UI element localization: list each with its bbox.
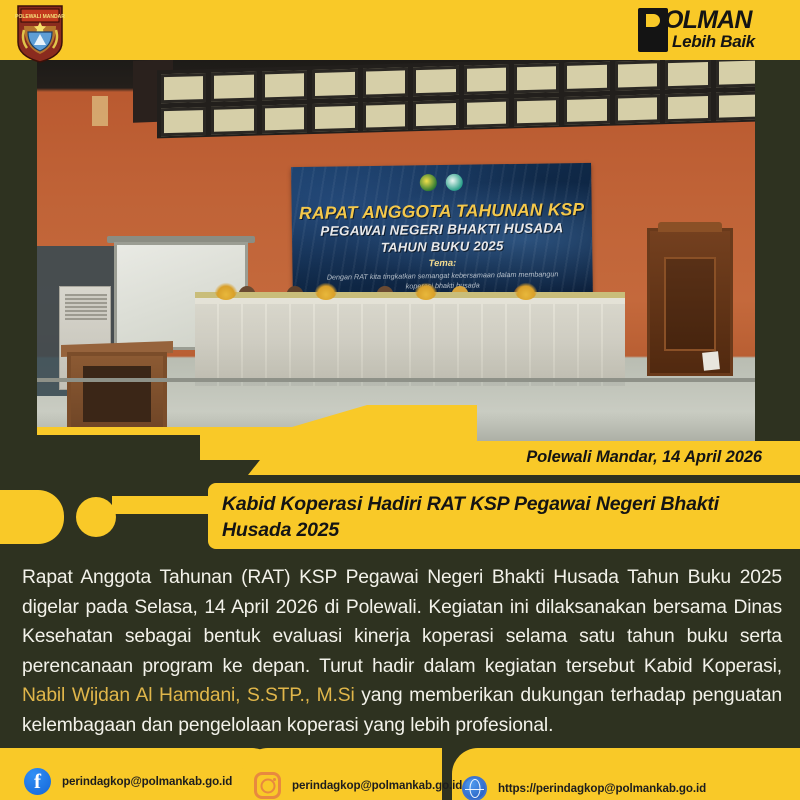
banner-logo-right-icon <box>446 174 463 191</box>
clerestory-window-band <box>157 60 755 138</box>
table-flower-arrangement <box>515 282 537 300</box>
title-decoration-dot <box>76 497 116 537</box>
facebook-handle: perindagkop@polmankab.go.id <box>62 775 232 788</box>
table-flower-arrangement <box>315 282 337 300</box>
globe-icon <box>462 776 487 800</box>
wooden-cabinet <box>647 228 733 376</box>
footer-website-link[interactable]: https://perindagkop@polmankab.go.id <box>462 776 706 800</box>
window-grid <box>161 60 755 136</box>
head-table <box>195 292 625 380</box>
event-backdrop-banner: RAPAT ANGGOTA TAHUNAN KSP PEGAWAI NEGERI… <box>291 163 593 303</box>
facebook-icon <box>24 768 51 795</box>
photo-background: RAPAT ANGGOTA TAHUNAN KSP PEGAWAI NEGERI… <box>37 60 755 460</box>
banner-title-line-2: PEGAWAI NEGERI BHAKTI HUSADA <box>292 220 592 239</box>
polewali-mandar-coat-of-arms-icon: POLEWALI MANDAR <box>14 2 66 64</box>
polman-wordmark: OLMAN <box>664 8 752 33</box>
article-body-part-1: Rapat Anggota Tahunan (RAT) KSP Pegawai … <box>22 567 782 677</box>
paper-sheet <box>702 351 720 371</box>
wooden-podium <box>67 352 167 434</box>
page-title: Kabid Koperasi Hadiri RAT KSP Pegawai Ne… <box>222 491 784 543</box>
highlighted-person-name: Nabil Wijdan Al Hamdani, S.STP., M.Si <box>22 685 355 706</box>
instagram-icon <box>254 772 281 799</box>
headline-block: Kabid Koperasi Hadiri RAT KSP Pegawai Ne… <box>208 483 800 549</box>
article-body: Rapat Anggota Tahunan (RAT) KSP Pegawai … <box>22 563 782 740</box>
wall-window <box>92 96 108 126</box>
poster-root: POLEWALI MANDAR Dinas Perindustrian, Per… <box>0 0 800 800</box>
polman-logo: P OLMAN Lebih Baik <box>638 8 778 54</box>
stage-edge-line <box>37 378 755 382</box>
banner-logos <box>420 174 463 192</box>
title-decoration-rounded-rect <box>0 490 64 544</box>
banner-logo-left-icon <box>420 174 437 191</box>
website-url: https://perindagkop@polmankab.go.id <box>498 782 706 795</box>
footer-facebook-link[interactable]: perindagkop@polmankab.go.id <box>24 768 232 795</box>
svg-text:POLEWALI MANDAR: POLEWALI MANDAR <box>15 14 65 20</box>
event-date-text: Polewali Mandar, 14 April 2026 <box>526 448 762 467</box>
table-flower-arrangement <box>215 282 237 300</box>
polman-tagline: Lebih Baik <box>672 32 755 51</box>
instagram-handle: perindagkop@polmankab.go.id <box>292 779 462 792</box>
footer-instagram-link[interactable]: perindagkop@polmankab.go.id <box>254 772 462 799</box>
dark-corner-block <box>37 435 200 460</box>
event-photo: RAPAT ANGGOTA TAHUNAN KSP PEGAWAI NEGERI… <box>37 60 755 460</box>
table-flower-arrangement <box>415 282 437 300</box>
banner-title-line-3: TAHUN BUKU 2025 <box>292 237 592 256</box>
